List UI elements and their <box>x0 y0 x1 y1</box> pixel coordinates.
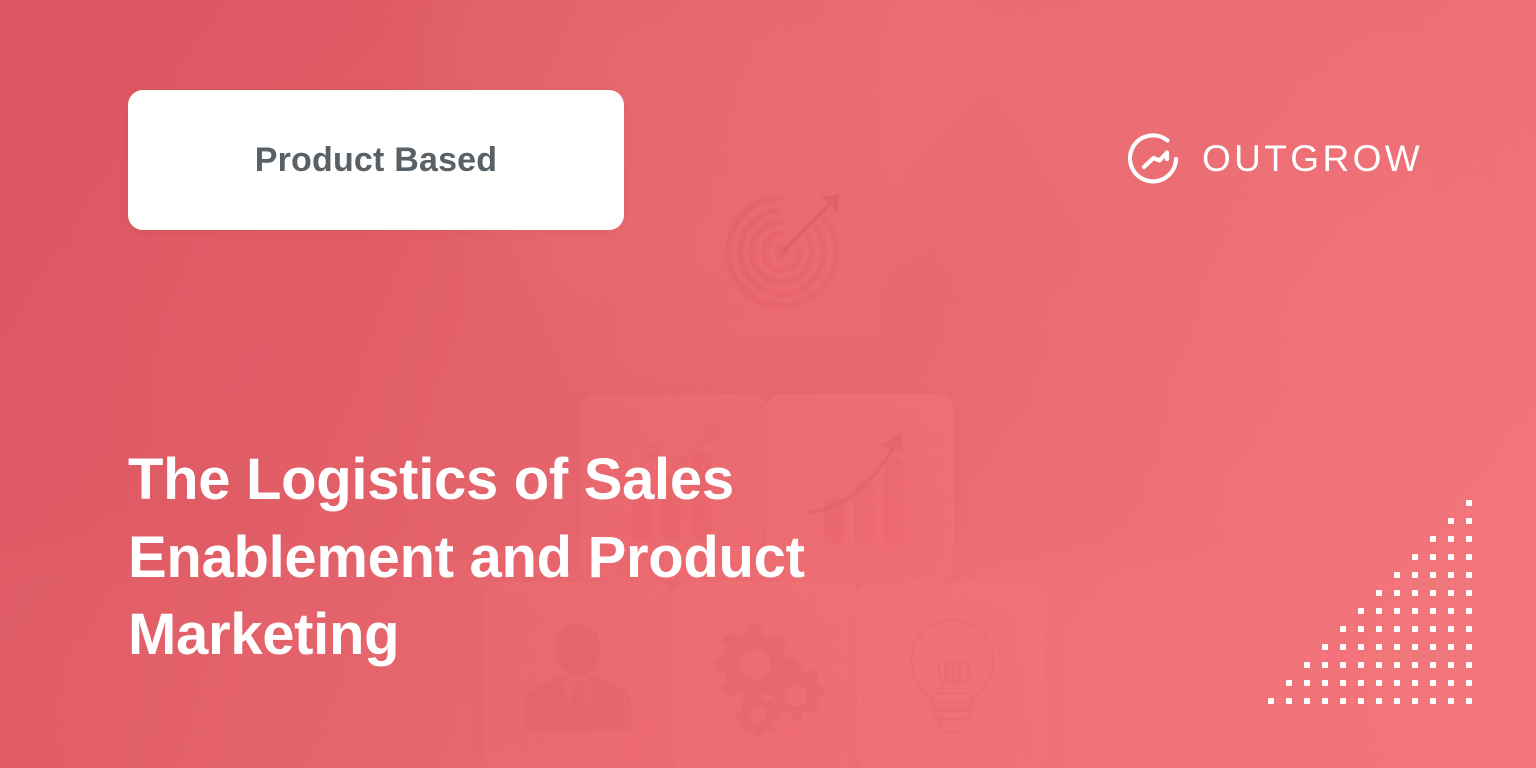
pattern-dot <box>1430 572 1436 578</box>
pattern-dot <box>1412 572 1418 578</box>
pattern-dot <box>1466 644 1472 650</box>
pattern-dot <box>1394 608 1400 614</box>
pattern-dot <box>1394 680 1400 686</box>
pattern-dot <box>1304 680 1310 686</box>
pattern-dot <box>1448 626 1454 632</box>
category-badge: Product Based <box>128 90 624 230</box>
pattern-dot <box>1430 662 1436 668</box>
pattern-dot <box>1430 554 1436 560</box>
pattern-dot <box>1466 698 1472 704</box>
pattern-dot <box>1466 626 1472 632</box>
pattern-dot <box>1340 644 1346 650</box>
pattern-dot <box>1340 698 1346 704</box>
pattern-dot <box>1466 500 1472 506</box>
outgrow-wordmark: OUTGROW <box>1202 138 1423 180</box>
pattern-dot <box>1340 680 1346 686</box>
pattern-dot <box>1358 626 1364 632</box>
pattern-dot <box>1430 626 1436 632</box>
pattern-dot <box>1412 698 1418 704</box>
pattern-dot <box>1466 608 1472 614</box>
headline-line-2: Enablement and Product <box>128 519 928 597</box>
pattern-dot <box>1466 554 1472 560</box>
headline-line-1: The Logistics of Sales <box>128 441 928 519</box>
pattern-dot <box>1466 572 1472 578</box>
pattern-dot <box>1448 698 1454 704</box>
pattern-dot <box>1412 554 1418 560</box>
pattern-dot <box>1358 644 1364 650</box>
pattern-dot <box>1340 662 1346 668</box>
pattern-dot <box>1448 536 1454 542</box>
pattern-dot <box>1412 626 1418 632</box>
pattern-dot <box>1412 644 1418 650</box>
pattern-dot <box>1448 554 1454 560</box>
pattern-dot <box>1376 644 1382 650</box>
category-badge-label: Product Based <box>255 141 498 180</box>
pattern-dot <box>1448 518 1454 524</box>
pattern-dot <box>1322 644 1328 650</box>
pattern-dot <box>1358 680 1364 686</box>
pattern-dot <box>1286 698 1292 704</box>
pattern-dot <box>1448 608 1454 614</box>
pattern-dot <box>1394 644 1400 650</box>
banner-root: Product Based The Logistics of Sales Ena… <box>0 0 1536 768</box>
outgrow-circle-chart-mark-icon <box>1126 130 1184 188</box>
pattern-dot <box>1430 680 1436 686</box>
page-title: The Logistics of Sales Enablement and Pr… <box>128 441 928 674</box>
pattern-dot <box>1448 644 1454 650</box>
pattern-dot <box>1376 626 1382 632</box>
pattern-dot <box>1466 662 1472 668</box>
pattern-dot <box>1376 680 1382 686</box>
dot-triangle-pattern <box>1268 500 1468 700</box>
pattern-dot <box>1322 698 1328 704</box>
pattern-dot <box>1394 698 1400 704</box>
pattern-dot <box>1466 536 1472 542</box>
pattern-dot <box>1376 698 1382 704</box>
pattern-dot <box>1322 680 1328 686</box>
pattern-dot <box>1286 680 1292 686</box>
pattern-dot <box>1376 662 1382 668</box>
pattern-dot <box>1358 662 1364 668</box>
pattern-dot <box>1448 680 1454 686</box>
pattern-dot <box>1304 698 1310 704</box>
headline-line-3: Marketing <box>128 596 928 674</box>
pattern-dot <box>1448 572 1454 578</box>
pattern-dot <box>1466 518 1472 524</box>
pattern-dot <box>1394 590 1400 596</box>
pattern-dot <box>1412 662 1418 668</box>
outgrow-logo[interactable]: OUTGROW <box>1126 130 1423 188</box>
pattern-dot <box>1358 698 1364 704</box>
pattern-dot <box>1394 626 1400 632</box>
pattern-dot <box>1412 590 1418 596</box>
pattern-dot <box>1376 608 1382 614</box>
pattern-dot <box>1448 662 1454 668</box>
pattern-dot <box>1448 590 1454 596</box>
pattern-dot <box>1466 590 1472 596</box>
pattern-dot <box>1430 644 1436 650</box>
pattern-dot <box>1394 572 1400 578</box>
pattern-dot <box>1430 698 1436 704</box>
pattern-dot <box>1430 608 1436 614</box>
pattern-dot <box>1304 662 1310 668</box>
pattern-dot <box>1430 536 1436 542</box>
pattern-dot <box>1412 608 1418 614</box>
pattern-dot <box>1322 662 1328 668</box>
pattern-dot <box>1394 662 1400 668</box>
pattern-dot <box>1376 590 1382 596</box>
pattern-dot <box>1358 608 1364 614</box>
pattern-dot <box>1268 698 1274 704</box>
pattern-dot <box>1412 680 1418 686</box>
pattern-dot <box>1340 626 1346 632</box>
pattern-dot <box>1466 680 1472 686</box>
pattern-dot <box>1430 590 1436 596</box>
